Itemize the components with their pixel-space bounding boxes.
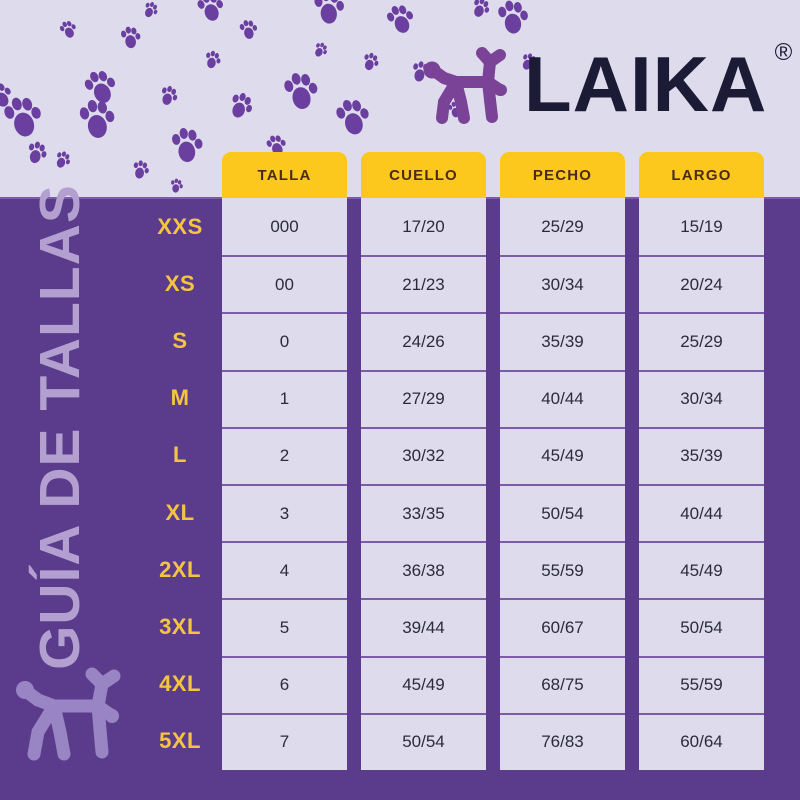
paw-print-icon	[81, 65, 121, 107]
cell-talla: 000	[222, 198, 347, 255]
paw-print-icon	[204, 50, 222, 70]
size-label-m: M	[138, 370, 222, 427]
cell-talla: 5	[222, 598, 347, 655]
size-label-xl: XL	[138, 484, 222, 541]
cell-largo: 40/44	[639, 484, 764, 541]
cell-cuello: 27/29	[361, 370, 486, 427]
paw-print-icon	[120, 25, 142, 50]
paw-print-icon	[170, 178, 183, 193]
table-header-talla: TALLA	[222, 152, 347, 198]
size-label-4xl: 4XL	[138, 656, 222, 713]
cell-cuello: 21/23	[361, 255, 486, 312]
paw-print-icon	[53, 149, 72, 170]
cell-largo: 20/24	[639, 255, 764, 312]
cell-largo: 30/34	[639, 370, 764, 427]
paw-print-icon	[313, 0, 346, 25]
paw-print-icon	[384, 0, 418, 36]
brand-wordmark: LAIKA ®	[524, 45, 767, 123]
cell-largo: 25/29	[639, 312, 764, 369]
cell-talla: 4	[222, 541, 347, 598]
cell-largo: 45/49	[639, 541, 764, 598]
paw-print-icon	[142, 0, 161, 20]
cell-pecho: 40/44	[500, 370, 625, 427]
cell-talla: 0	[222, 312, 347, 369]
table-row: 333/3550/5440/44	[222, 484, 764, 541]
table-row: 645/4968/7555/59	[222, 656, 764, 713]
table-row: 436/3855/5945/49	[222, 541, 764, 598]
paw-print-icon	[159, 84, 180, 107]
paw-print-icon	[238, 18, 259, 41]
table-row: 024/2635/3925/29	[222, 312, 764, 369]
registered-trademark-icon: ®	[775, 41, 794, 65]
size-label-3xl: 3XL	[138, 598, 222, 655]
size-guide-canvas: GUÍA DE TALLAS	[0, 0, 800, 800]
table-header-row: TALLACUELLOPECHOLARGO	[222, 152, 764, 198]
size-label-column: XXSXSSMLXL2XL3XL4XL5XL	[138, 198, 222, 770]
table-header-pecho: PECHO	[500, 152, 625, 198]
paw-print-icon	[132, 159, 150, 179]
paw-print-icon	[362, 51, 381, 72]
cell-largo: 60/64	[639, 713, 764, 770]
cell-cuello: 24/26	[361, 312, 486, 369]
size-label-5xl: 5XL	[138, 713, 222, 770]
table-row: 00017/2025/2915/19	[222, 198, 764, 255]
cell-cuello: 39/44	[361, 598, 486, 655]
cell-largo: 15/19	[639, 198, 764, 255]
paw-print-icon	[227, 90, 255, 121]
table-header-largo: LARGO	[639, 152, 764, 198]
cell-cuello: 50/54	[361, 713, 486, 770]
cell-talla: 00	[222, 255, 347, 312]
cell-cuello: 45/49	[361, 656, 486, 713]
paw-print-icon	[26, 140, 49, 165]
balloon-dog-icon	[420, 40, 516, 128]
cell-talla: 1	[222, 370, 347, 427]
paw-print-icon	[171, 126, 205, 164]
cell-talla: 6	[222, 656, 347, 713]
cell-pecho: 60/67	[500, 598, 625, 655]
size-label-s: S	[138, 312, 222, 369]
brand-name: LAIKA	[524, 40, 767, 128]
cell-largo: 55/59	[639, 656, 764, 713]
balloon-dog-silhouette-icon	[8, 660, 138, 770]
table-row: 127/2940/4430/34	[222, 370, 764, 427]
cell-pecho: 68/75	[500, 656, 625, 713]
cell-pecho: 45/49	[500, 427, 625, 484]
size-table: TALLACUELLOPECHOLARGO 00017/2025/2915/19…	[222, 152, 764, 770]
table-body: 00017/2025/2915/190021/2330/3420/24024/2…	[222, 198, 764, 770]
paw-print-icon	[78, 96, 119, 141]
cell-pecho: 55/59	[500, 541, 625, 598]
table-row: 0021/2330/3420/24	[222, 255, 764, 312]
table-row: 230/3245/4935/39	[222, 427, 764, 484]
paw-print-icon	[470, 0, 492, 20]
cell-talla: 2	[222, 427, 347, 484]
cell-talla: 7	[222, 713, 347, 770]
size-label-xs: XS	[138, 255, 222, 312]
brand-logo: LAIKA ®	[420, 34, 767, 134]
table-row: 539/4460/6750/54	[222, 598, 764, 655]
cell-pecho: 25/29	[500, 198, 625, 255]
size-label-l: L	[138, 427, 222, 484]
table-row: 750/5476/8360/64	[222, 713, 764, 770]
size-label-xxs: XXS	[138, 198, 222, 255]
size-label-2xl: 2XL	[138, 541, 222, 598]
paw-print-icon	[497, 0, 531, 36]
cell-cuello: 17/20	[361, 198, 486, 255]
paw-print-icon	[58, 18, 80, 41]
cell-pecho: 30/34	[500, 255, 625, 312]
cell-cuello: 36/38	[361, 541, 486, 598]
paw-print-icon	[282, 69, 322, 112]
cell-pecho: 35/39	[500, 312, 625, 369]
paw-print-icon	[195, 0, 227, 24]
cell-cuello: 33/35	[361, 484, 486, 541]
cell-pecho: 50/54	[500, 484, 625, 541]
cell-pecho: 76/83	[500, 713, 625, 770]
paw-print-icon	[333, 95, 373, 139]
table-header-cuello: CUELLO	[361, 152, 486, 198]
cell-largo: 50/54	[639, 598, 764, 655]
cell-cuello: 30/32	[361, 427, 486, 484]
paw-print-icon	[312, 41, 330, 60]
cell-largo: 35/39	[639, 427, 764, 484]
cell-talla: 3	[222, 484, 347, 541]
